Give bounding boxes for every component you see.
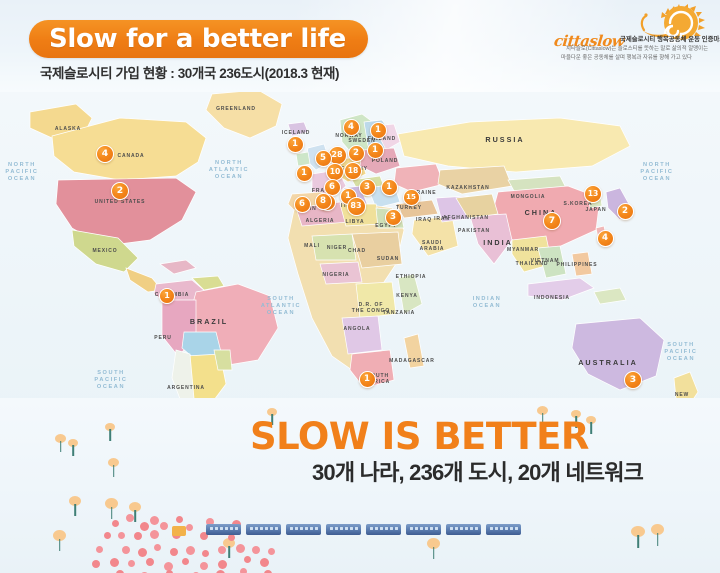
train-window (475, 527, 478, 531)
cherry-blossom-icon (202, 550, 209, 557)
country-label: MADAGASCAR (382, 358, 442, 364)
slogan: SLOW IS BETTER (250, 415, 589, 458)
train-window (250, 527, 253, 531)
city-count-badge[interactable]: 4 (597, 230, 614, 247)
train-window (235, 527, 238, 531)
cittaslow-logo: cittaslow 국제슬로시티 행복공동체 운동 인증마크 치타슬로(Citt… (548, 4, 716, 66)
train-window (395, 527, 398, 531)
cherry-blossom-icon (92, 560, 100, 568)
title-pill: Slow for a better life (29, 20, 368, 58)
country-label: MEXICO (75, 248, 135, 254)
city-count-badge[interactable]: 2 (348, 145, 365, 162)
country-label: RUSSIA (475, 135, 535, 144)
train-window (450, 527, 453, 531)
city-count-badge[interactable]: 4 (343, 119, 360, 136)
train-window (275, 527, 278, 531)
train-window (470, 527, 473, 531)
city-count-badge[interactable]: 10 (326, 163, 344, 181)
train-window (255, 527, 258, 531)
ocean-label: SOUTHPACIFICOCEAN (88, 370, 134, 391)
country-label: BRAZIL (179, 317, 239, 326)
train-window (310, 527, 313, 531)
city-count-badge[interactable]: 1 (381, 179, 398, 196)
cherry-blossom-icon (252, 546, 260, 554)
cherry-blossom-icon (240, 568, 247, 573)
cherry-blossom-icon (170, 548, 178, 556)
country-label: ETHIOPIA (381, 274, 441, 280)
city-count-badge[interactable]: 3 (624, 371, 642, 389)
country-label: CHINA (511, 208, 571, 217)
train-window (225, 527, 228, 531)
cherry-blossom-icon (118, 532, 125, 539)
train-window (495, 527, 498, 531)
country-label: PAKISTAN (444, 228, 504, 234)
train-window (350, 527, 353, 531)
ocean-label: NORTHPACIFICOCEAN (0, 162, 44, 183)
cherry-blossom-icon (160, 522, 168, 530)
cherry-blossom-icon (236, 544, 245, 553)
city-count-badge[interactable]: 13 (584, 185, 602, 203)
city-count-badge[interactable]: 3 (359, 179, 376, 196)
country-label: ALASKA (38, 126, 98, 132)
country-label: AUSTRALIA (578, 358, 638, 367)
train-window (315, 527, 318, 531)
country-label: PERU (133, 335, 193, 341)
country-label: EGYPT (356, 223, 416, 229)
train-window (410, 527, 413, 531)
country-label: KENYA (377, 293, 437, 299)
slogan-subtext: 30개 나라, 236개 도시, 20개 네트워크 (312, 455, 643, 487)
train-window (270, 527, 273, 531)
country-label: SAUDIARABIA (402, 240, 462, 252)
train-window (210, 527, 213, 531)
train-window (430, 527, 433, 531)
city-count-badge[interactable]: 15 (403, 189, 420, 206)
ocean-label: NORTHPACIFICOCEAN (634, 162, 680, 183)
train-car (406, 524, 441, 535)
train-window (330, 527, 333, 531)
train-car (366, 524, 401, 535)
ocean-label: SOUTHPACIFICOCEAN (658, 342, 704, 363)
train-window (385, 527, 388, 531)
city-count-badge[interactable]: 6 (294, 196, 311, 213)
train-window (290, 527, 293, 531)
tree-icon (54, 434, 67, 452)
train-window (380, 527, 383, 531)
country-label: SUDAN (358, 256, 418, 262)
country-label: MYANMAR (493, 247, 553, 253)
train-window (490, 527, 493, 531)
tree-icon (67, 439, 79, 456)
cherry-blossom-icon (96, 546, 103, 553)
tree-icon (650, 524, 665, 546)
city-count-badge[interactable]: 1 (367, 142, 384, 159)
city-count-badge[interactable]: 2 (111, 182, 129, 200)
cherry-blossom-icon (138, 548, 147, 557)
country-label: INDONESIA (522, 295, 582, 301)
train-window (305, 527, 308, 531)
cart-icon (172, 526, 186, 536)
train-window (465, 527, 468, 531)
cherry-blossom-icon (176, 516, 183, 523)
country-label: ARGENTINA (156, 385, 216, 391)
logo-tagline-3: 마을다운 좋은 공동체를 살며 행복과 자유를 향해 가고 있다 (561, 53, 692, 61)
cherry-blossom-icon (150, 516, 159, 525)
tree-icon (104, 498, 119, 519)
country-label: AFGHANISTAN (436, 215, 496, 221)
train-window (510, 527, 513, 531)
cherry-blossom-icon (186, 524, 193, 531)
cherry-blossom-icon (218, 546, 226, 554)
cherry-blossom-icon (218, 560, 227, 569)
cherry-blossom-icon (200, 562, 208, 570)
train-car (206, 524, 241, 535)
train-car (286, 524, 321, 535)
cherry-blossom-icon (146, 558, 154, 566)
cherry-blossom-icon (228, 534, 235, 541)
country-label: MALI (282, 243, 342, 249)
country-label: NIGERIA (306, 272, 366, 278)
logo-tagline-2: 치타슬로(Cittaslow)는 슬로스티를 뜻하는 말로 삶의적 알맹이는 (566, 44, 708, 52)
train-window (335, 527, 338, 531)
train-window (420, 527, 423, 531)
cherry-blossom-icon (186, 546, 195, 555)
train-window (500, 527, 503, 531)
train-window (435, 527, 438, 531)
train-window (260, 527, 263, 531)
tree-icon (52, 530, 67, 551)
train-window (505, 527, 508, 531)
country-label: POLAND (355, 158, 415, 164)
city-count-badge[interactable]: 8 (315, 193, 332, 210)
country-label: UKRAINE (392, 190, 452, 196)
cherry-blossom-icon (110, 558, 119, 567)
cherry-blossom-icon (260, 558, 269, 567)
ocean-label: INDIANOCEAN (464, 296, 510, 310)
city-count-badge[interactable]: 7 (543, 212, 561, 230)
country-label: MONGOLIA (498, 194, 558, 200)
train-window (390, 527, 393, 531)
city-count-badge[interactable]: 1 (287, 136, 304, 153)
world-map: NORTHPACIFICOCEAN NORTHATLANTICOCEAN SOU… (0, 88, 720, 418)
train-window (375, 527, 378, 531)
cherry-blossom-icon (104, 532, 111, 539)
train-window (265, 527, 268, 531)
country-label: ANGOLA (327, 326, 387, 332)
cherry-blossom-icon (182, 558, 189, 565)
country-label: GREENLAND (206, 106, 266, 112)
country-label: PHILIPPINES (547, 262, 607, 268)
city-count-badge[interactable]: 1 (359, 371, 376, 388)
tree-icon (107, 458, 120, 477)
city-count-badge[interactable]: 3 (385, 209, 402, 226)
train-window (460, 527, 463, 531)
train-window (425, 527, 428, 531)
city-count-badge[interactable]: 4 (96, 145, 114, 163)
logo-tagline-1: 국제슬로시티 행복공동체 운동 인증마크 (620, 34, 720, 43)
cherry-blossom-icon (134, 532, 142, 540)
train-window (340, 527, 343, 531)
train-window (295, 527, 298, 531)
train-window (215, 527, 218, 531)
subtitle: 국제슬로시티 가입 현황 : 30개국 236도시(2018.3 현재) (40, 62, 339, 82)
cherry-blossom-icon (128, 560, 135, 567)
country-label: SOUTHAFRICA (348, 373, 408, 385)
train-window (370, 527, 373, 531)
train-window (345, 527, 348, 531)
infographic-poster: NORTHPACIFICOCEAN NORTHATLANTICOCEAN SOU… (0, 0, 720, 573)
cherry-blossom-icon (268, 548, 275, 555)
city-count-badge[interactable]: 1 (159, 288, 175, 304)
city-count-badge[interactable]: 1 (296, 165, 313, 182)
city-count-badge[interactable]: 18 (344, 162, 362, 180)
city-count-badge[interactable]: 2 (617, 203, 634, 220)
train-car (446, 524, 481, 535)
train-car (486, 524, 521, 535)
cherry-blossom-icon (244, 556, 251, 563)
train-window (230, 527, 233, 531)
cherry-blossom-icon (140, 522, 149, 531)
page-title: Slow for a better life (49, 24, 346, 54)
tree-icon (68, 496, 82, 516)
train-window (355, 527, 358, 531)
country-label: S.KOREA (548, 201, 608, 207)
ocean-label: NORTHATLANTICOCEAN (206, 160, 252, 181)
train-window (515, 527, 518, 531)
cherry-blossom-icon (150, 530, 159, 539)
tree-icon (426, 538, 441, 559)
country-label: TANZANIA (369, 310, 429, 316)
train-window (415, 527, 418, 531)
train-window (455, 527, 458, 531)
train-car (246, 524, 281, 535)
tree-icon (104, 423, 116, 441)
train-window (300, 527, 303, 531)
ocean-label: SOUTHATLANTICOCEAN (258, 296, 304, 317)
cherry-blossom-icon (126, 514, 134, 522)
city-count-badge[interactable]: 83 (347, 197, 366, 216)
cherry-blossom-icon (112, 520, 119, 527)
train-car (326, 524, 361, 535)
train-window (220, 527, 223, 531)
cherry-blossom-icon (122, 546, 130, 554)
country-label: INDIA (468, 238, 528, 247)
cherry-blossom-icon (154, 544, 161, 551)
tree-icon (630, 526, 646, 548)
city-count-badge[interactable]: 1 (370, 122, 387, 139)
